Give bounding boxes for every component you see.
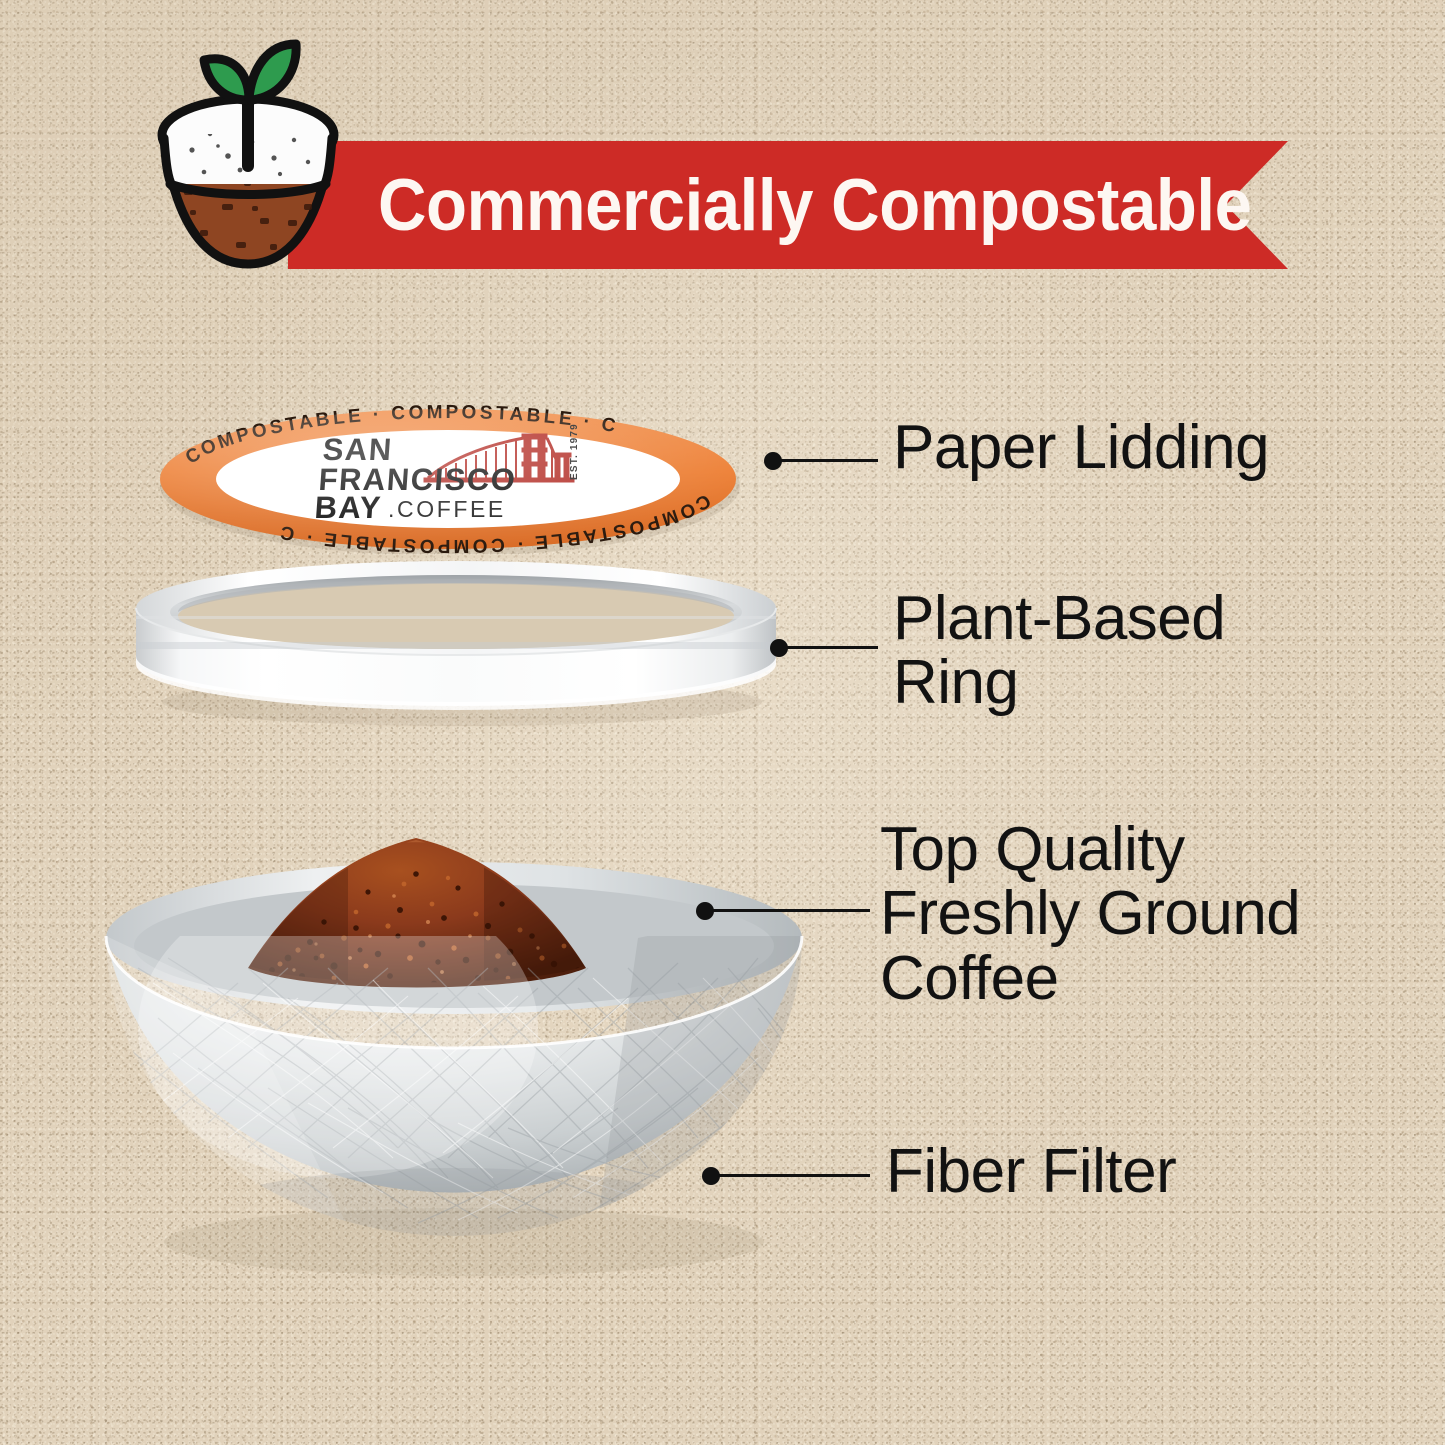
plant-based-ring (128, 556, 784, 728)
infographic-canvas: Commercially Compostable (0, 0, 1445, 1445)
seedling-in-coconut-pot-icon (148, 38, 348, 280)
callout-label-fiber-filter: Fiber Filter (886, 1140, 1176, 1204)
banner-title: Commercially Compostable (378, 141, 1169, 269)
callout-line-ground-coffee (712, 909, 870, 912)
callout-label-ground-coffee: Top Quality Freshly Ground Coffee (880, 818, 1300, 1011)
paper-lid: COMPOSTABLE · COMPOSTABLE · C COMPOSTABL… (128, 404, 768, 554)
callout-label-plant-based-ring: Plant-Based Ring (893, 587, 1225, 716)
fiber-filter-pod (98, 818, 810, 1286)
callout-line-paper-lidding (780, 459, 878, 462)
callout-line-plant-based-ring (786, 646, 878, 649)
callout-label-paper-lidding: Paper Lidding (893, 416, 1269, 480)
callout-line-fiber-filter (718, 1174, 870, 1177)
